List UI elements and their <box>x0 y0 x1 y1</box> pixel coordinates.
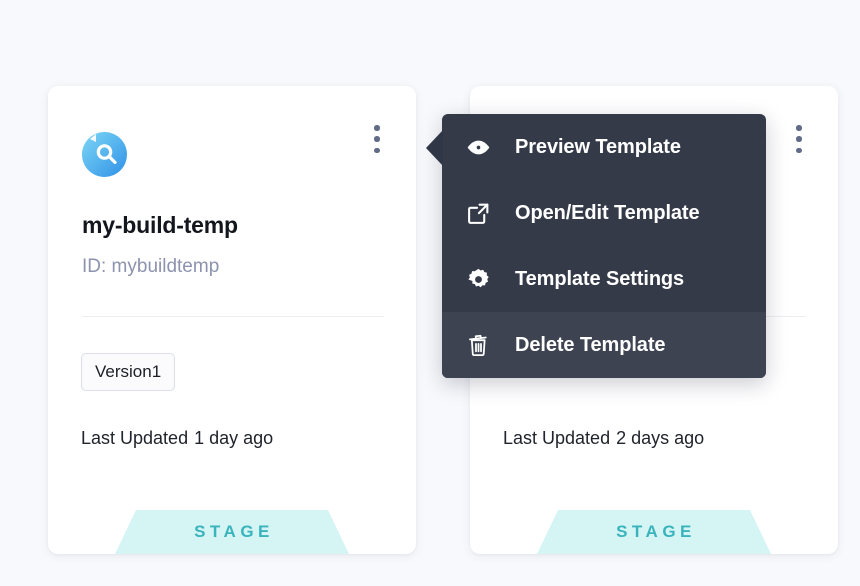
menu-item-label: Template Settings <box>515 268 684 291</box>
kebab-dot <box>796 148 802 154</box>
search-circle-icon <box>82 132 127 177</box>
more-vertical-icon[interactable] <box>366 122 388 156</box>
menu-item-open-edit-template[interactable]: Open/Edit Template <box>442 180 766 246</box>
last-updated: Last Updated1 day ago <box>81 428 273 449</box>
kebab-dot <box>796 125 802 131</box>
more-vertical-icon[interactable] <box>788 122 810 156</box>
context-menu[interactable]: Preview Template Open/Edit Template Temp… <box>442 114 766 378</box>
template-card[interactable]: my-build-temp ID: mybuildtemp Version1 L… <box>48 86 416 554</box>
version-pill[interactable]: Version1 <box>81 353 175 391</box>
last-updated-value: 2 days ago <box>616 428 704 448</box>
kebab-dot <box>796 136 802 142</box>
menu-item-label: Preview Template <box>515 136 681 159</box>
card-title: my-build-temp <box>82 212 238 239</box>
menu-item-label: Delete Template <box>515 334 665 357</box>
kebab-dot <box>374 125 380 131</box>
last-updated-label: Last Updated <box>81 428 188 448</box>
context-menu-arrow <box>426 130 443 166</box>
kebab-dot <box>374 136 380 142</box>
menu-item-label: Open/Edit Template <box>515 202 700 225</box>
card-body: my-build-temp ID: mybuildtemp Version1 L… <box>48 86 416 554</box>
last-updated-value: 1 day ago <box>194 428 273 448</box>
menu-item-template-settings[interactable]: Template Settings <box>442 246 766 312</box>
kebab-dot <box>374 148 380 154</box>
status-badge: STAGE <box>537 510 771 554</box>
status-badge-label: STAGE <box>612 522 696 542</box>
last-updated: Last Updated2 days ago <box>503 428 704 449</box>
status-badge: STAGE <box>115 510 349 554</box>
gear-icon <box>466 266 496 292</box>
status-badge-label: STAGE <box>190 522 274 542</box>
eye-icon <box>466 134 496 160</box>
card-id: ID: mybuildtemp <box>82 256 219 278</box>
menu-item-delete-template[interactable]: Delete Template <box>442 312 766 378</box>
menu-item-preview-template[interactable]: Preview Template <box>442 114 766 180</box>
trash-icon <box>466 332 496 358</box>
external-link-icon <box>466 200 496 226</box>
last-updated-label: Last Updated <box>503 428 610 448</box>
card-divider <box>82 316 384 317</box>
